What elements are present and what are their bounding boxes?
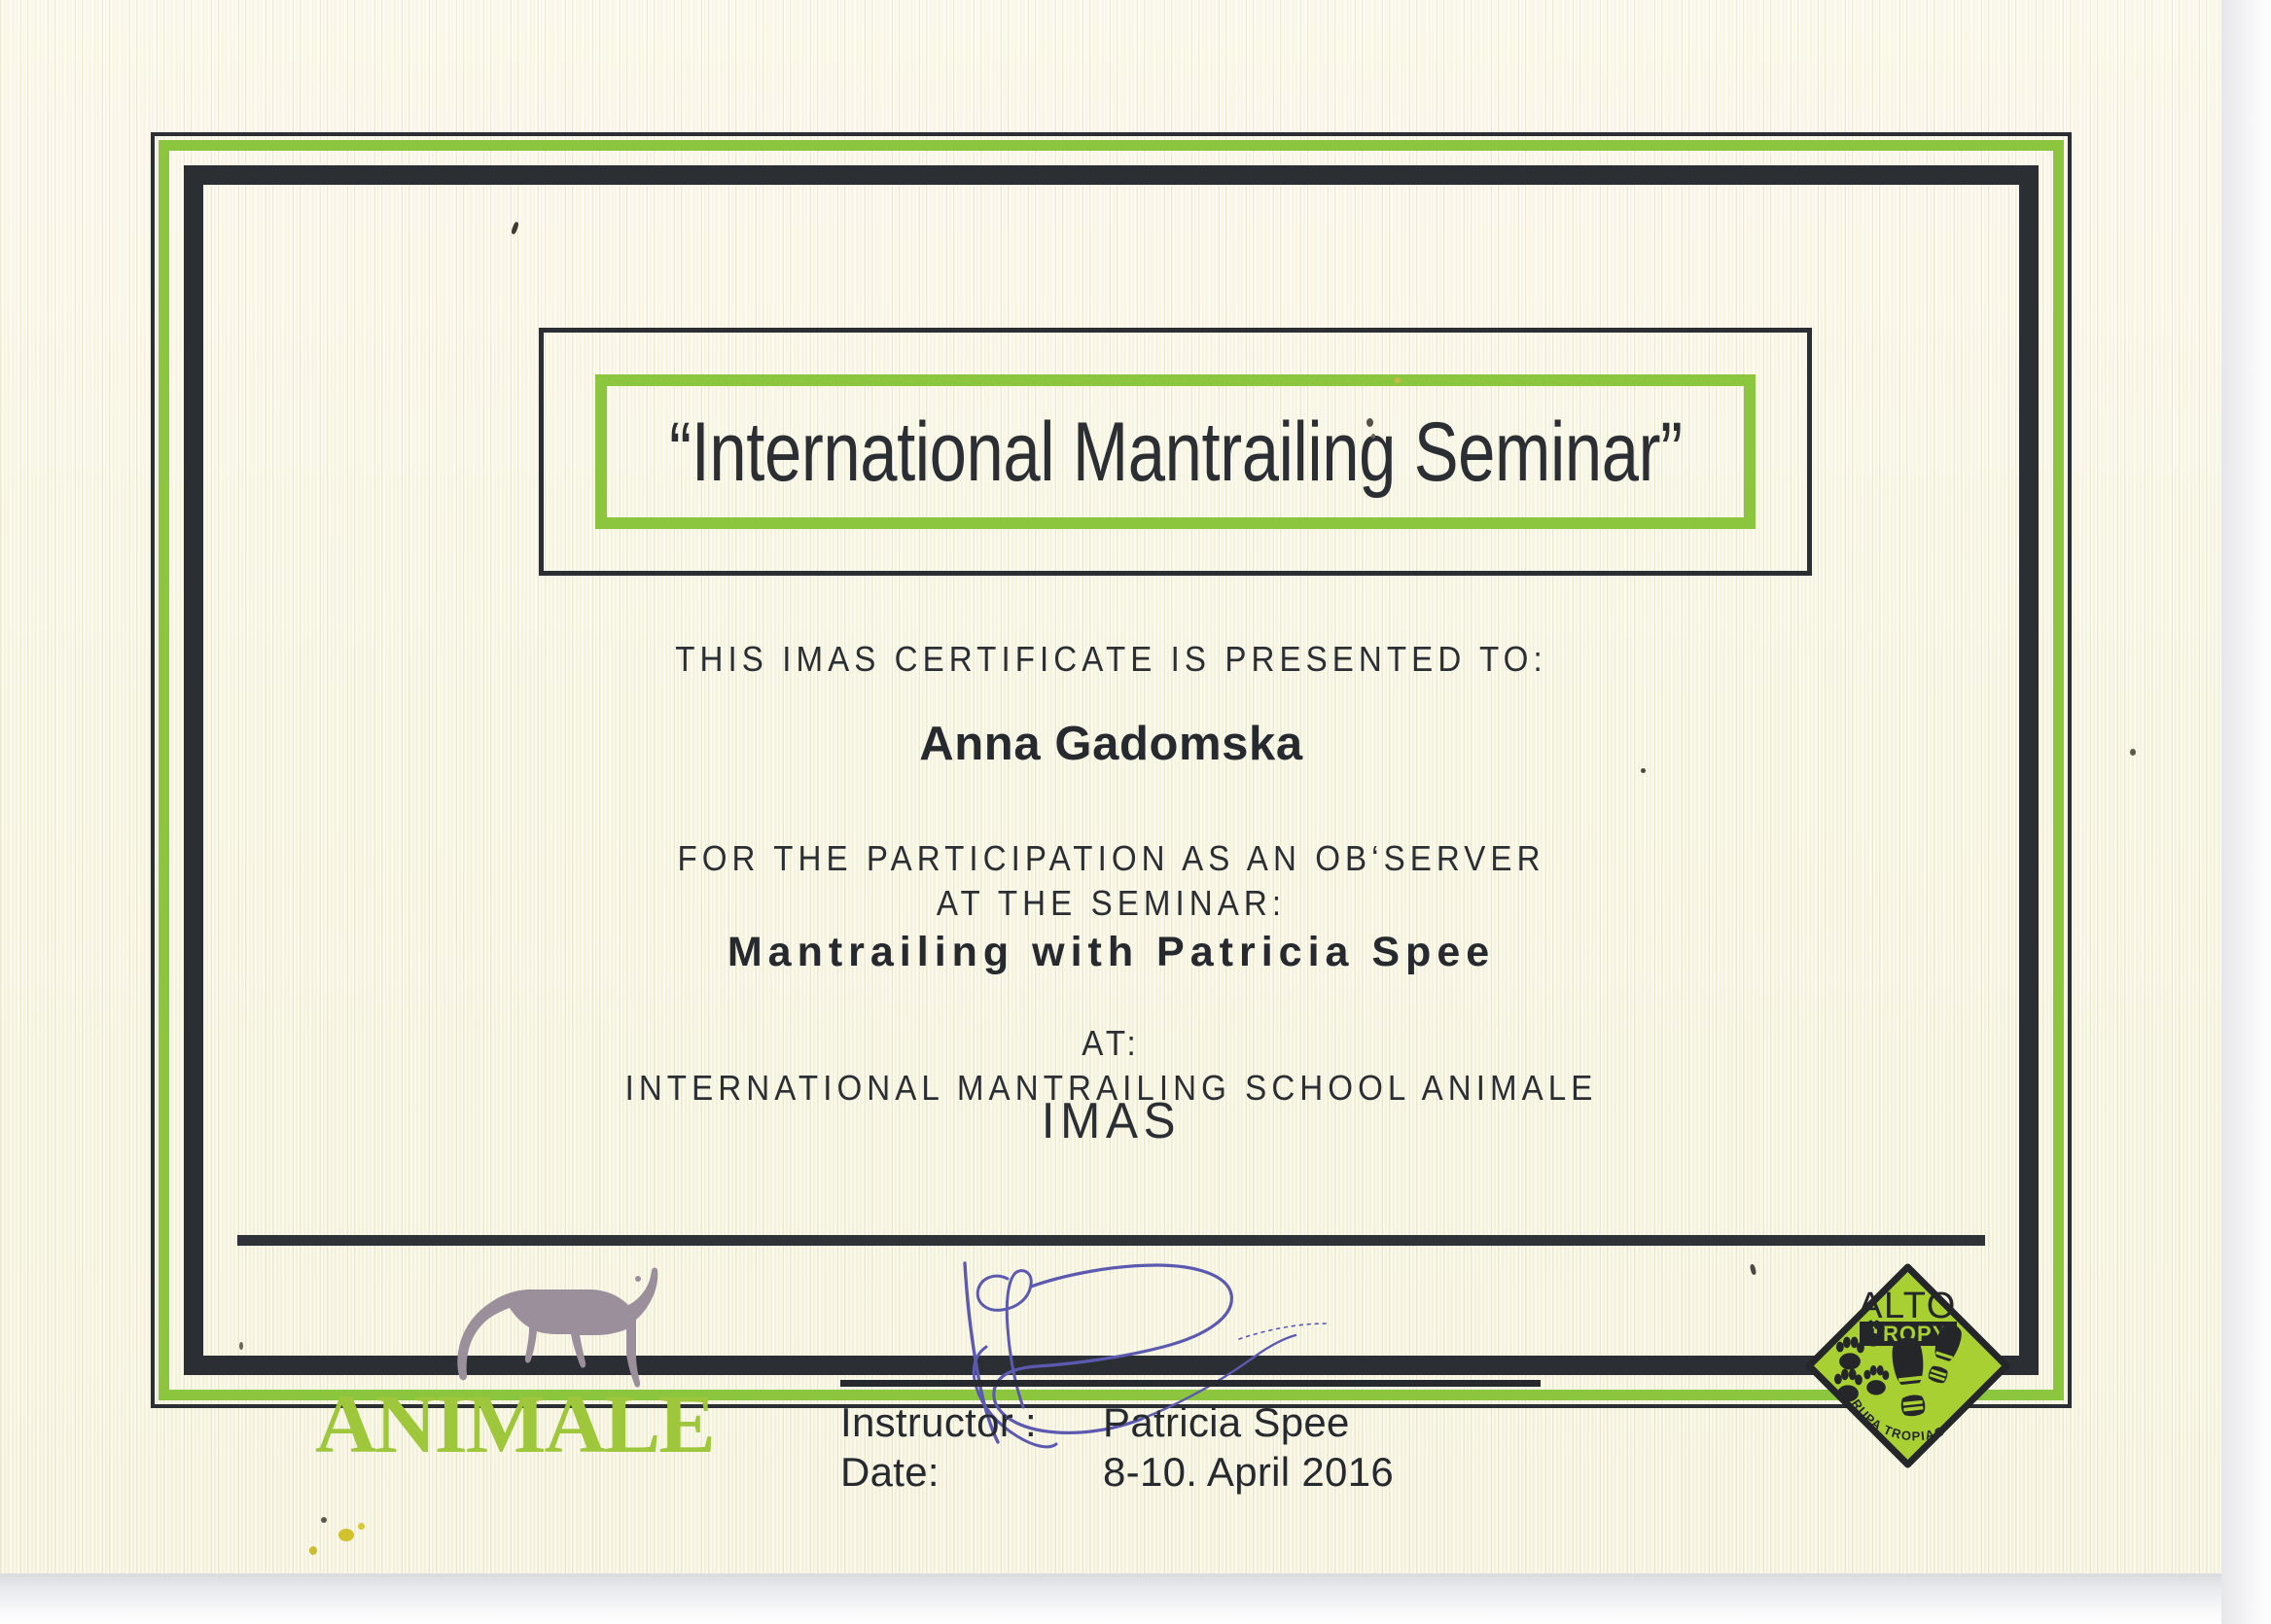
school-abbrev: IMAS — [313, 1092, 1909, 1150]
instructor-value: Patricia Spee — [1103, 1397, 1541, 1447]
title-box-green-border: “International Mantrailing Seminar” — [595, 374, 1756, 529]
seminar-name: Mantrailing with Patricia Spee — [271, 929, 1951, 976]
seminar-name-row: Mantrailing with Patricia Spee — [271, 929, 1951, 976]
certificate-green-frame-band: “International Mantrailing Seminar” THIS… — [159, 140, 2064, 1400]
signature-block: Instructor : Patricia Spee Date: 8-10. A… — [840, 1255, 1541, 1479]
instructor-label: Instructor : — [840, 1397, 1103, 1447]
school-abbrev-row: IMAS — [271, 1092, 1951, 1150]
participation-text-row: FOR THE PARTICIPATION AS AN OB‘SERVER AT… — [271, 836, 1951, 926]
animale-logo: ANIMALE — [315, 1265, 665, 1469]
certificate-content-area: “International Mantrailing Seminar” THIS… — [237, 219, 1985, 1322]
date-row: Date: 8-10. April 2016 — [840, 1447, 1541, 1497]
date-label: Date: — [840, 1447, 1103, 1497]
scanner-bed-right — [2221, 0, 2271, 1624]
at-label: AT: — [338, 1021, 1884, 1066]
scanner-background: “International Mantrailing Seminar” THIS… — [0, 0, 2271, 1624]
certificate-paper: “International Mantrailing Seminar” THIS… — [0, 0, 2225, 1581]
certificate-outer-frame: “International Mantrailing Seminar” THIS… — [151, 132, 2072, 1408]
date-value: 8-10. April 2016 — [1103, 1447, 1541, 1497]
tracking-dog-silhouette-icon — [444, 1265, 665, 1394]
scan-speck — [309, 1546, 317, 1555]
title-box: “International Mantrailing Seminar” — [539, 328, 1812, 576]
certificate-inner-frame-band: “International Mantrailing Seminar” THIS… — [184, 165, 2039, 1375]
alto-text: ALTO — [1858, 1286, 1957, 1326]
participation-line-1: FOR THE PARTICIPATION AS AN OB‘SERVER — [338, 836, 1884, 881]
scan-speck — [338, 1529, 354, 1541]
signature-labels: Instructor : Patricia Spee Date: 8-10. A… — [840, 1397, 1541, 1497]
recipient-name: Anna Gadomska — [271, 717, 1951, 771]
animale-wordmark: ANIMALE — [315, 1382, 672, 1465]
scanner-bed-bottom — [0, 1573, 2271, 1624]
scan-speck — [2130, 749, 2136, 756]
presented-to-label-row: THIS IMAS CERTIFICATE IS PRESENTED TO: — [271, 637, 1951, 682]
presented-to-label: THIS IMAS CERTIFICATE IS PRESENTED TO: — [338, 637, 1884, 682]
certificate-footer: ANIMALE — [237, 1246, 1985, 1322]
scan-speck — [321, 1517, 327, 1523]
certificate-title: “International Mantrailing Seminar” — [669, 410, 1682, 494]
instructor-row: Instructor : Patricia Spee — [840, 1397, 1541, 1447]
signature-line — [840, 1380, 1541, 1387]
scan-speck — [358, 1523, 365, 1530]
participation-line-2: AT THE SEMINAR: — [338, 881, 1884, 926]
recipient-name-row: Anna Gadomska — [271, 717, 1951, 771]
alto-tropy-logo: ALTO TROPY — [1803, 1261, 2012, 1470]
footer-divider — [237, 1235, 1985, 1246]
